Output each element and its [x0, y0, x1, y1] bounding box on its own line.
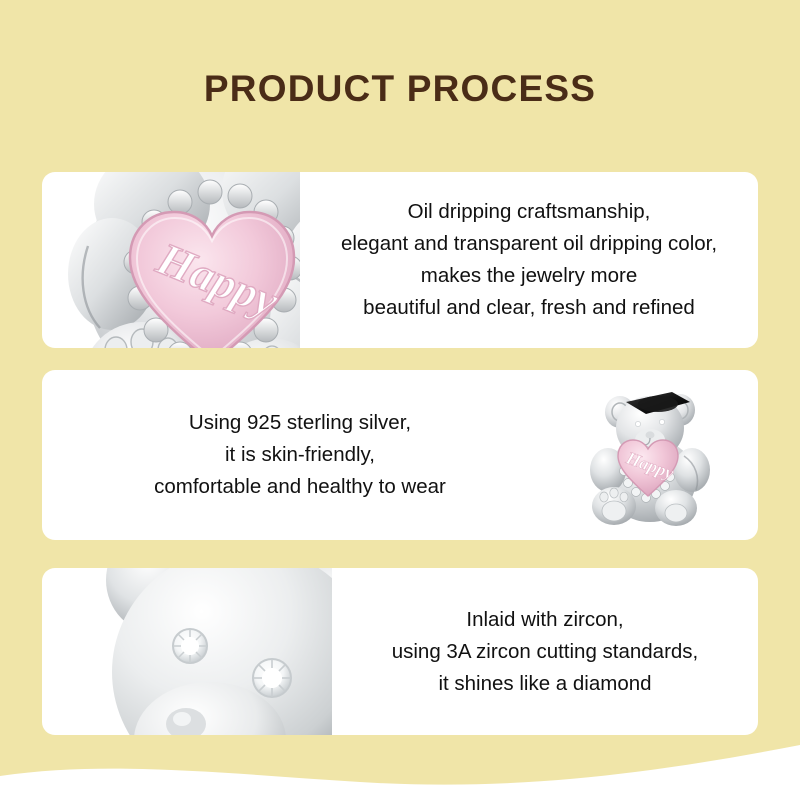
process-card-zircon-inlay: Inlaid with zircon, using 3A zircon cutt… — [42, 568, 758, 735]
copy-line: elegant and transparent oil dripping col… — [314, 228, 744, 260]
product-process-infographic: PRODUCT PROCESS — [0, 0, 800, 800]
card-text-oil-dripping: Oil dripping craftsmanship, elegant and … — [300, 196, 758, 324]
copy-line: Using 925 sterling silver, — [56, 407, 544, 439]
card-text-sterling-silver: Using 925 sterling silver, it is skin-fr… — [42, 407, 558, 503]
copy-line: it is skin-friendly, — [56, 439, 544, 471]
process-card-oil-dripping: Happy Oil dripping craftsmanship, elegan… — [42, 172, 758, 348]
bear-charm-heart-closeup-image: Happy — [42, 172, 300, 348]
copy-line: Inlaid with zircon, — [346, 604, 744, 636]
copy-line: comfortable and healthy to wear — [56, 471, 544, 503]
copy-line: Oil dripping craftsmanship, — [314, 196, 744, 228]
card-text-zircon-inlay: Inlaid with zircon, using 3A zircon cutt… — [332, 604, 758, 700]
bear-charm-full-view-image: Happy — [558, 370, 758, 540]
copy-line: beautiful and clear, fresh and refined — [314, 292, 744, 324]
process-card-sterling-silver: Happy Using 925 sterling silver, it is s… — [42, 370, 758, 540]
zircon-eye-right — [253, 659, 291, 697]
page-title: PRODUCT PROCESS — [0, 68, 800, 110]
zircon-eye-left — [173, 629, 207, 663]
bear-charm-face-macro-image — [42, 568, 332, 735]
copy-line: makes the jewelry more — [314, 260, 744, 292]
copy-line: it shines like a diamond — [346, 668, 744, 700]
copy-line: using 3A zircon cutting standards, — [346, 636, 744, 668]
